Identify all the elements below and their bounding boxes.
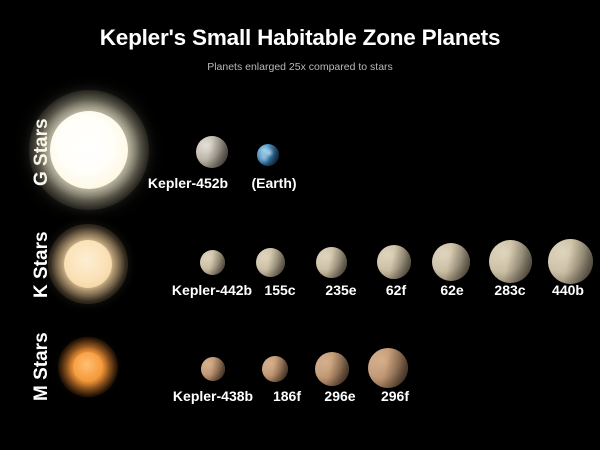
k-star <box>64 240 112 288</box>
planet-earth <box>257 144 279 166</box>
planet-kepler-296e-shading <box>315 352 349 386</box>
planet-kepler-283c <box>489 240 532 283</box>
planet-kepler-452b <box>196 136 228 168</box>
planet-label-earth: (Earth) <box>251 176 296 190</box>
planet-kepler-296f-shading <box>368 348 408 388</box>
planet-label-kepler-440b: 440b <box>552 283 584 297</box>
planet-label-kepler-296e: 296e <box>324 389 355 403</box>
planet-kepler-438b <box>201 357 225 381</box>
row-label-m-stars: M Stars <box>32 332 51 401</box>
planet-label-kepler-296f: 296f <box>381 389 409 403</box>
planet-earth-shading <box>257 144 279 166</box>
row-label-k-stars: K Stars <box>32 231 51 298</box>
planet-kepler-440b-shading <box>548 239 593 284</box>
planet-label-kepler-186f: 186f <box>273 389 301 403</box>
planet-kepler-62e <box>432 243 470 281</box>
page-title: Kepler's Small Habitable Zone Planets <box>0 27 600 50</box>
planet-kepler-235e-shading <box>316 247 347 278</box>
g-star <box>50 111 128 189</box>
planet-label-kepler-452b: Kepler-452b <box>148 176 228 190</box>
planet-kepler-283c-shading <box>489 240 532 283</box>
planet-kepler-186f <box>262 356 288 382</box>
planet-label-kepler-438b: Kepler-438b <box>173 389 253 403</box>
planet-kepler-452b-shading <box>196 136 228 168</box>
planet-kepler-155c-shading <box>256 248 285 277</box>
planet-kepler-440b <box>548 239 593 284</box>
planet-kepler-235e <box>316 247 347 278</box>
planet-label-kepler-235e: 235e <box>325 283 356 297</box>
planet-kepler-62f <box>377 245 411 279</box>
planet-kepler-62f-shading <box>377 245 411 279</box>
planet-kepler-62e-shading <box>432 243 470 281</box>
row-label-g-stars: G Stars <box>32 118 51 186</box>
planet-kepler-155c <box>256 248 285 277</box>
page-subtitle: Planets enlarged 25x compared to stars <box>0 62 600 73</box>
planet-kepler-442b <box>200 250 225 275</box>
kepler-habitable-zone-poster: Kepler's Small Habitable Zone Planets Pl… <box>0 0 600 450</box>
planet-label-kepler-62e: 62e <box>440 283 463 297</box>
planet-label-kepler-283c: 283c <box>494 283 525 297</box>
planet-kepler-438b-shading <box>201 357 225 381</box>
planet-label-kepler-62f: 62f <box>386 283 406 297</box>
planet-label-kepler-442b: Kepler-442b <box>172 283 252 297</box>
m-star <box>73 352 103 382</box>
planet-kepler-296e <box>315 352 349 386</box>
planet-label-kepler-155c: 155c <box>264 283 295 297</box>
planet-kepler-296f <box>368 348 408 388</box>
planet-kepler-442b-shading <box>200 250 225 275</box>
planet-kepler-186f-shading <box>262 356 288 382</box>
